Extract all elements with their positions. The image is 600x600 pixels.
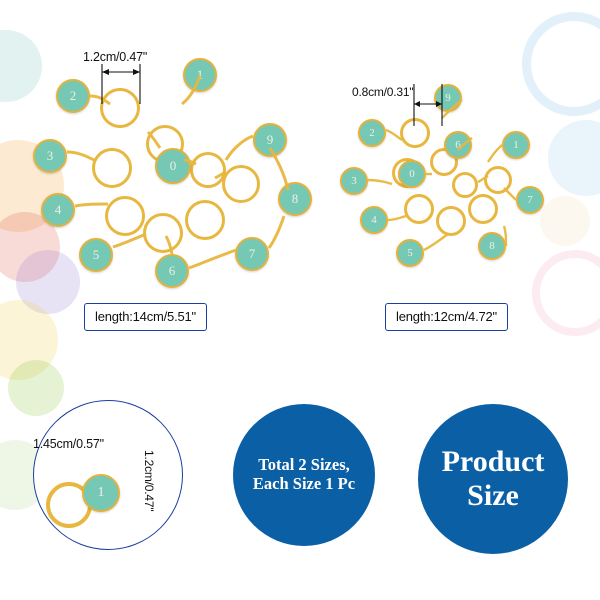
detail-height-label: 1.2cm/0.47" xyxy=(142,450,156,511)
left-disc-4: 4 xyxy=(41,193,75,227)
bg-ring-pink-right xyxy=(532,250,600,336)
right-disc-6: 6 xyxy=(444,131,472,159)
product-badge-line1: Product xyxy=(442,445,545,480)
left-disc-2: 2 xyxy=(56,79,90,113)
left-disc-0: 0 xyxy=(155,148,191,184)
total-sizes-line1: Total 2 Sizes, xyxy=(253,456,355,475)
bg-ring-blue-right xyxy=(522,12,600,116)
left-disc-3: 3 xyxy=(33,139,67,173)
right-disc-5-label: 5 xyxy=(407,247,413,259)
left-disc-9-label: 9 xyxy=(267,132,274,148)
left-disc-7: 7 xyxy=(235,237,269,271)
product-size-infographic: 1 2 3 4 5 6 0 9 8 7 9 2 3 4 5 xyxy=(0,0,600,600)
right-disc-2-label: 2 xyxy=(369,127,375,139)
detail-width-label: 1.45cm/0.57" xyxy=(33,437,104,451)
right-disc-7-label: 8 xyxy=(489,240,495,252)
detail-inset-disc-label: 1 xyxy=(98,485,105,501)
right-disc-2: 2 xyxy=(358,119,386,147)
right-ring-1 xyxy=(400,118,430,148)
left-disc-6: 6 xyxy=(155,254,189,288)
right-disc-7: 8 xyxy=(478,232,506,260)
left-disc-8-label: 8 xyxy=(292,191,299,207)
right-ring-3 xyxy=(404,194,434,224)
bg-blob-cream-right xyxy=(540,196,590,246)
right-ring-4 xyxy=(436,206,466,236)
right-disc-6-label: 6 xyxy=(455,139,461,151)
left-dimension-label: 1.2cm/0.47" xyxy=(83,50,147,64)
left-disc-1: 1 xyxy=(183,58,217,92)
right-disc-1: 1 xyxy=(502,131,530,159)
right-disc-0-label: 0 xyxy=(409,168,415,180)
right-disc-3: 3 xyxy=(340,167,368,195)
left-disc-5: 5 xyxy=(79,238,113,272)
total-sizes-line2: Each Size 1 Pc xyxy=(253,475,355,494)
left-ring-5 xyxy=(185,200,225,240)
right-disc-9-label: 9 xyxy=(445,92,451,104)
left-ring-6 xyxy=(222,165,260,203)
right-ring-5 xyxy=(468,194,498,224)
left-disc-9: 9 xyxy=(253,123,287,157)
bg-blob-green xyxy=(8,360,64,416)
right-disc-5: 5 xyxy=(396,239,424,267)
left-disc-3-label: 3 xyxy=(47,148,54,164)
right-ring-8 xyxy=(452,172,478,198)
left-ring-8 xyxy=(190,152,226,188)
left-disc-2-label: 2 xyxy=(70,88,77,104)
right-disc-0: 0 xyxy=(398,160,426,188)
left-length-caption: length:14cm/5.51" xyxy=(84,303,207,331)
left-ring-3 xyxy=(105,196,145,236)
left-disc-7-label: 7 xyxy=(249,246,256,262)
right-disc-4: 4 xyxy=(360,206,388,234)
right-disc-9: 9 xyxy=(434,84,462,112)
product-badge-line2: Size xyxy=(442,479,545,514)
right-dimension-label: 0.8cm/0.31" xyxy=(352,85,413,99)
right-disc-1-label: 1 xyxy=(513,139,519,151)
product-size-badge: Product Size xyxy=(418,404,568,554)
left-disc-5-label: 5 xyxy=(93,247,100,263)
right-disc-3-label: 3 xyxy=(351,175,357,187)
left-ring-4 xyxy=(143,213,183,253)
left-disc-8: 8 xyxy=(278,182,312,216)
left-disc-0-label: 0 xyxy=(170,158,177,174)
right-ring-6 xyxy=(484,166,512,194)
detail-inset-disc: 1 xyxy=(82,474,120,512)
right-length-caption: length:12cm/4.72" xyxy=(385,303,508,331)
left-ring-2 xyxy=(92,148,132,188)
right-disc-8: 7 xyxy=(516,186,544,214)
right-disc-4-label: 4 xyxy=(371,214,377,226)
total-sizes-badge: Total 2 Sizes, Each Size 1 Pc xyxy=(233,404,375,546)
left-disc-4-label: 4 xyxy=(55,202,62,218)
left-disc-1-label: 1 xyxy=(197,67,204,83)
bg-blob-teal-left xyxy=(0,30,42,102)
left-ring-1 xyxy=(100,88,140,128)
bg-blob-lightblue-right xyxy=(548,120,600,196)
right-disc-8-label: 7 xyxy=(527,194,533,206)
left-disc-6-label: 6 xyxy=(169,263,176,279)
